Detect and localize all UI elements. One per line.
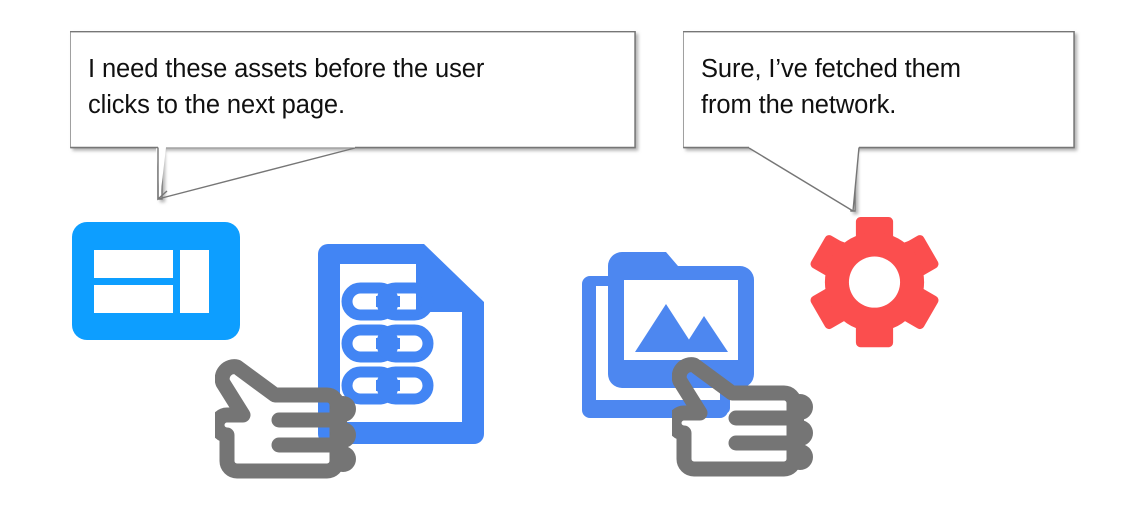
pointing-hand-icon bbox=[215, 343, 372, 487]
speech-bubble-reply-text: Sure, I’ve fetched them from the network… bbox=[701, 51, 1071, 123]
illustration-canvas: I need these assets before the user clic… bbox=[0, 0, 1130, 528]
page-layout-icon bbox=[72, 222, 240, 340]
speech-bubble-request-text: I need these assets before the user clic… bbox=[88, 51, 628, 123]
speech-bubble-request: I need these assets before the user clic… bbox=[70, 31, 636, 211]
speech-bubble-reply: Sure, I’ve fetched them from the network… bbox=[683, 31, 1075, 221]
pointing-hand-icon bbox=[672, 341, 829, 485]
